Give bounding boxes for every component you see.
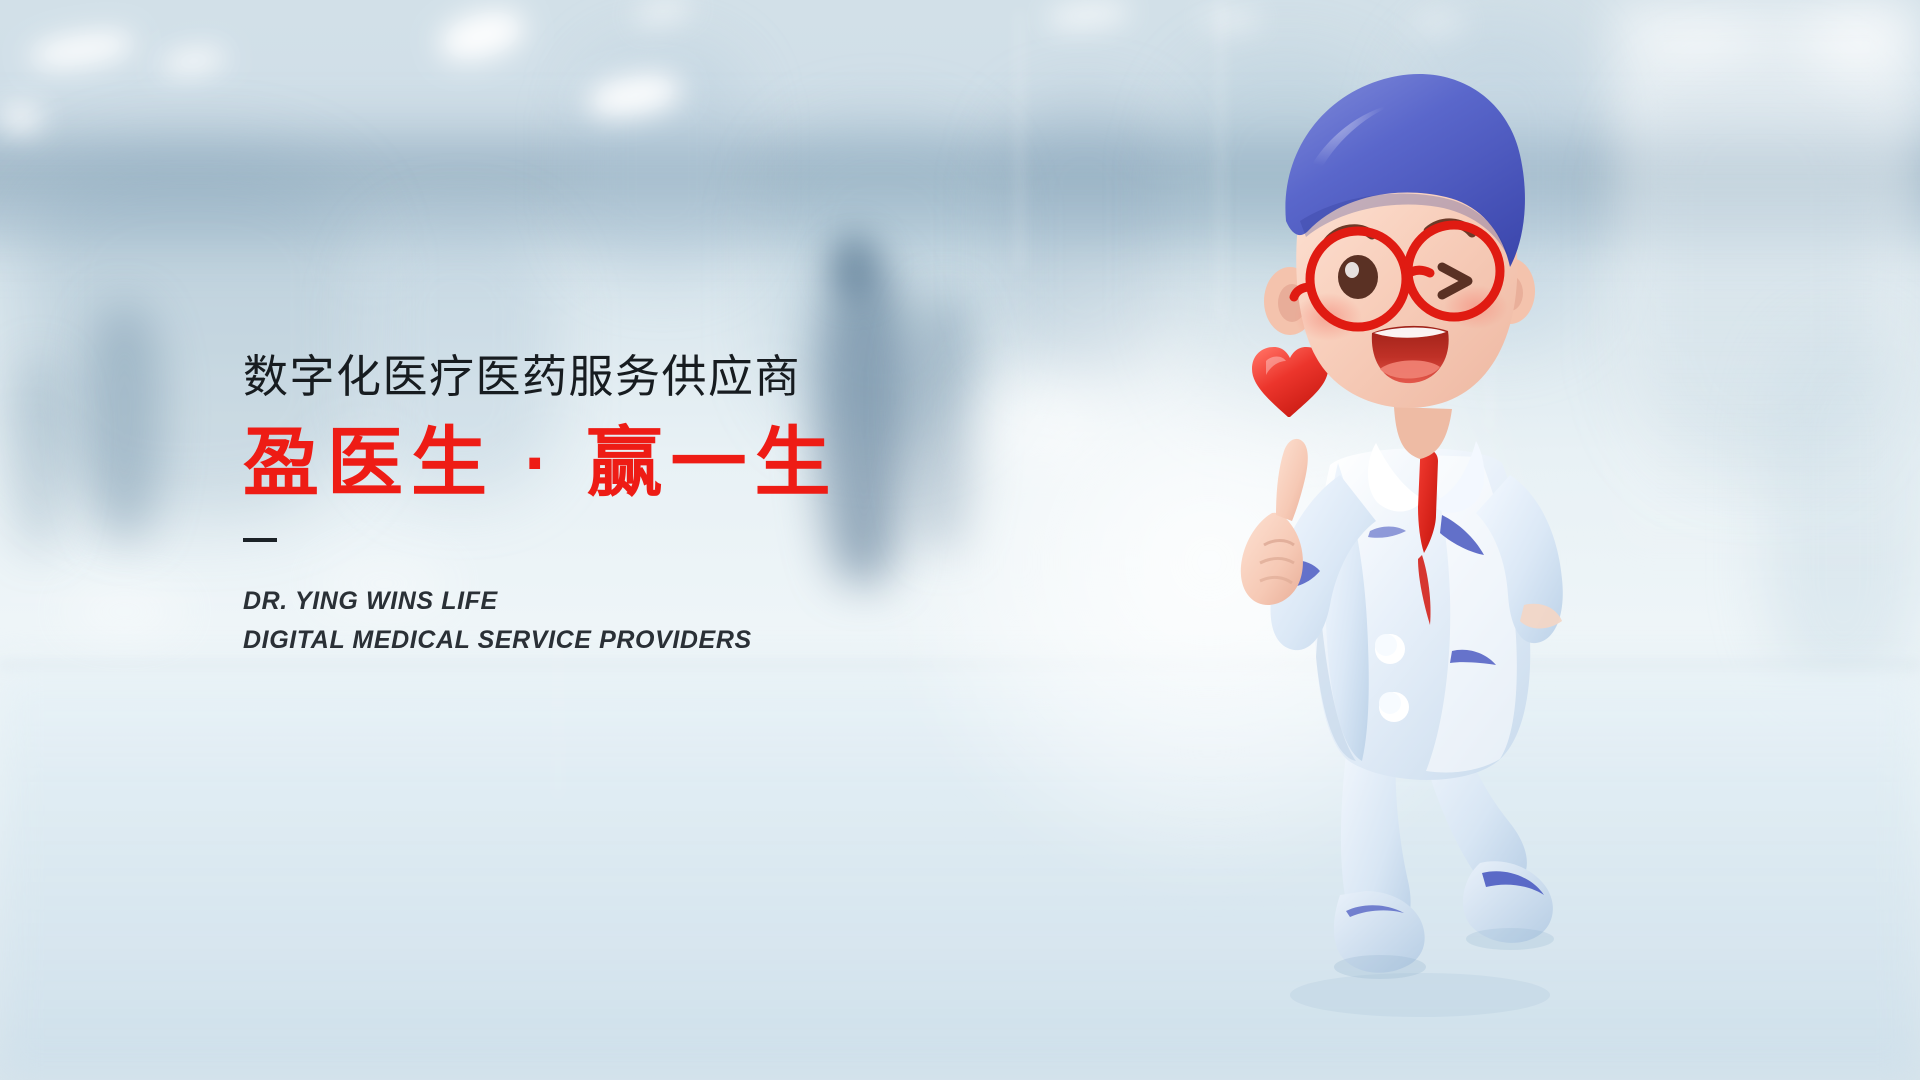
title-divider-rule	[243, 538, 277, 542]
subtitle-english: DR. YING WINS LIFE DIGITAL MEDICAL SERVI…	[243, 582, 1003, 660]
floor-light-reflection	[67, 594, 182, 629]
page-kicker: 数字化医疗医药服务供应商	[243, 352, 1003, 402]
subtitle-english-line2: DIGITAL MEDICAL SERVICE PROVIDERS	[243, 621, 1003, 660]
ceiling-light-bokeh	[1200, 11, 1261, 28]
hero-copy-block: 数字化医疗医药服务供应商 盈医生 · 赢一生 DR. YING WINS LIF…	[243, 352, 1003, 659]
ceiling-light-bokeh	[1411, 15, 1465, 30]
subtitle-english-line1: DR. YING WINS LIFE	[243, 582, 1003, 621]
index-finger	[1276, 439, 1308, 521]
background-person-head	[829, 232, 879, 297]
ceiling-light-bokeh	[0, 104, 42, 132]
doctor-mascot-illustration	[1180, 45, 1660, 1055]
background-person-silhouette	[10, 356, 68, 550]
background-person-silhouette	[86, 302, 163, 540]
eye-open	[1338, 255, 1378, 299]
page-title: 盈医生 · 赢一生	[243, 422, 1003, 506]
background-pillar-edge	[1018, 11, 1021, 270]
banner-stage: 数字化医疗医药服务供应商 盈医生 · 赢一生 DR. YING WINS LIF…	[0, 0, 1920, 1080]
